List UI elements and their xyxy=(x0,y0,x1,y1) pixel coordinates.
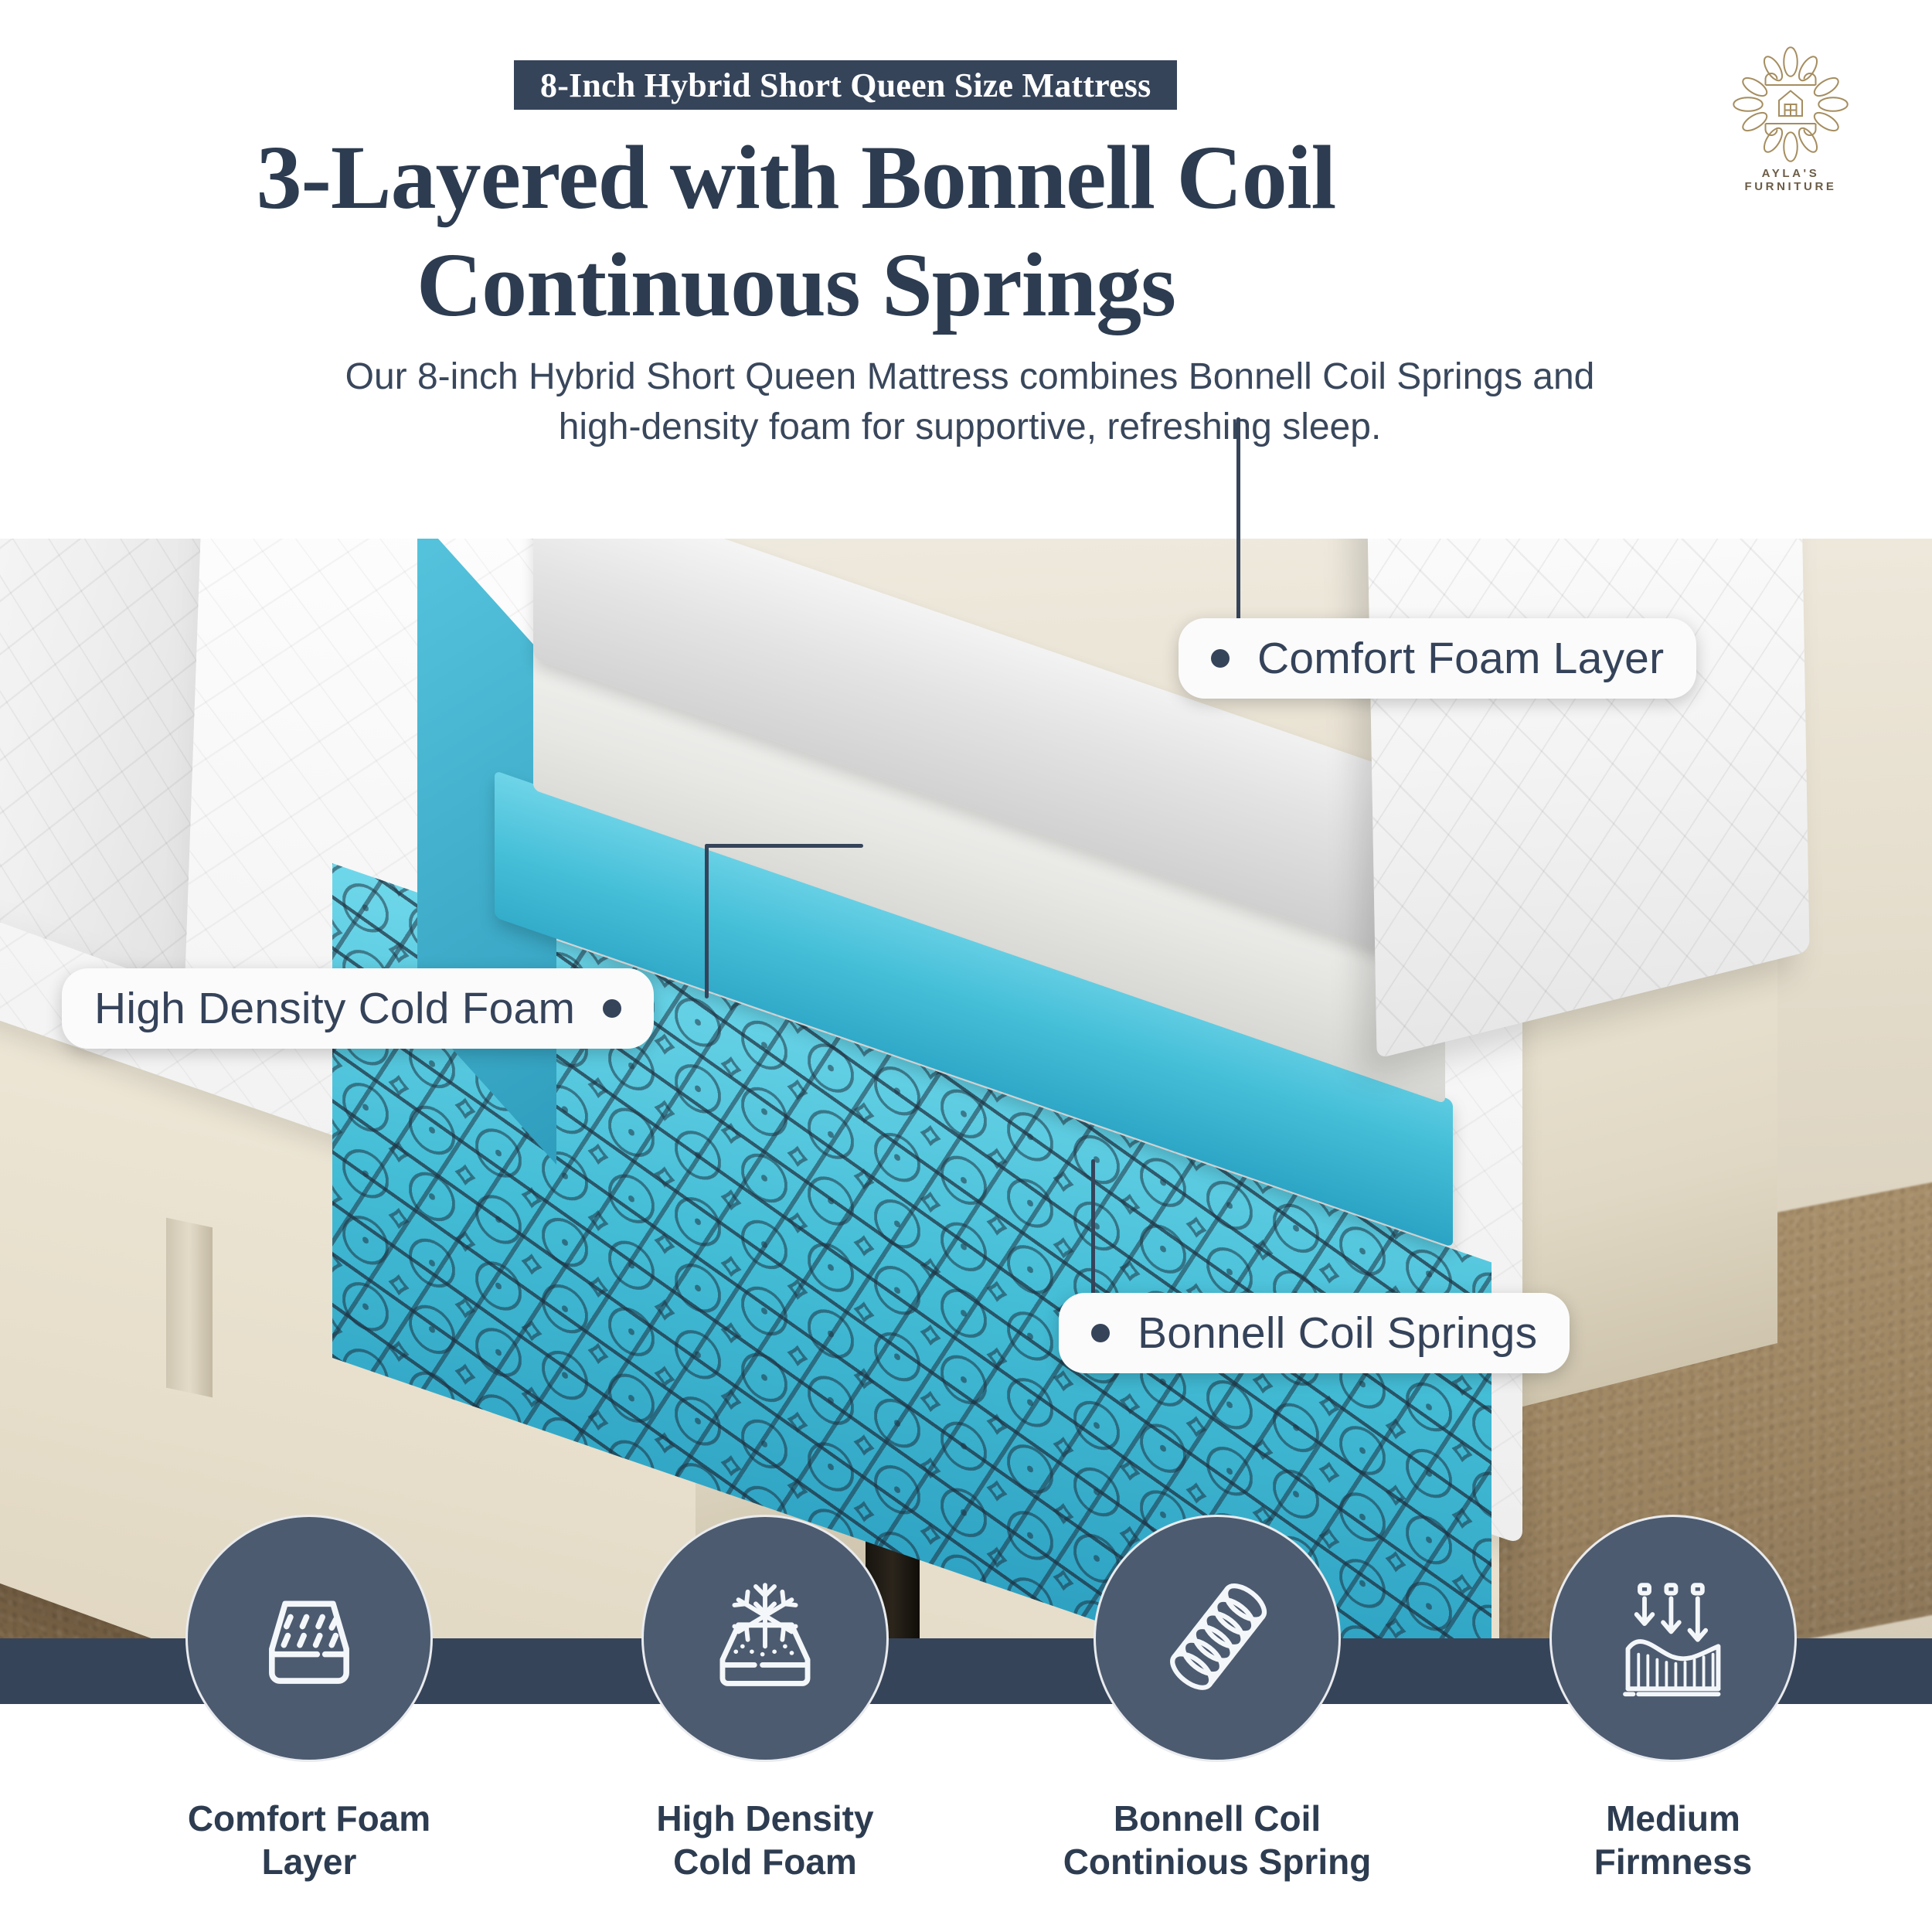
leader-line-cold-foam-h xyxy=(705,844,863,848)
badge-label: 8-Inch Hybrid Short Queen Size Mattress xyxy=(540,66,1151,105)
product-badge: 8-Inch Hybrid Short Queen Size Mattress xyxy=(514,60,1177,110)
feature-label: High Density Cold Foam xyxy=(587,1797,943,1883)
mattress-side-panel xyxy=(0,539,202,989)
feature-icon-circle xyxy=(641,1515,889,1762)
firmness-arrows-icon xyxy=(1607,1572,1740,1705)
callout-bonnell-coil-springs: Bonnell Coil Springs xyxy=(1059,1293,1570,1373)
callout-high-density-cold-foam: High Density Cold Foam xyxy=(62,968,654,1049)
callout-dot-icon xyxy=(1211,649,1230,668)
page-title: 3-Layered with Bonnell Coil Continuous S… xyxy=(0,124,1592,338)
callout-comfort-foam-layer: Comfort Foam Layer xyxy=(1179,618,1696,699)
leader-line-cold-foam-v xyxy=(705,844,709,998)
feature-icon-circle xyxy=(185,1515,433,1762)
page-title-line-2: Continuous Springs xyxy=(0,231,1592,338)
feature-label: Bonnell Coil Continious Spring xyxy=(1039,1797,1395,1883)
brand-logo: AYLA'S FURNITURE xyxy=(1717,46,1864,193)
leader-line-comfort-foam xyxy=(1236,417,1240,649)
callout-label: Bonnell Coil Springs xyxy=(1138,1308,1537,1359)
brand-name: AYLA'S FURNITURE xyxy=(1717,167,1864,193)
feature-label: Medium Firmness xyxy=(1495,1797,1851,1883)
callout-dot-icon xyxy=(1091,1324,1110,1342)
feature-icons-row: Comfort Foam Layer xyxy=(0,1638,1932,1932)
feature-label: Comfort Foam Layer xyxy=(131,1797,487,1883)
product-photo xyxy=(0,539,1932,1651)
page-title-line-1: 3-Layered with Bonnell Coil xyxy=(0,124,1592,231)
bed-leg-left xyxy=(166,1218,213,1398)
feature-icon-circle xyxy=(1549,1515,1797,1762)
callout-label: High Density Cold Foam xyxy=(94,983,575,1034)
coil-spring-icon xyxy=(1151,1572,1284,1705)
snowflake-mattress-icon xyxy=(699,1572,832,1705)
subtitle-line-1: Our 8-inch Hybrid Short Queen Mattress c… xyxy=(193,352,1747,402)
callout-dot-icon xyxy=(603,999,621,1018)
house-leaf-emblem-icon xyxy=(1733,46,1849,162)
header-section: 8-Inch Hybrid Short Queen Size Mattress … xyxy=(0,0,1932,541)
feature-icon-circle xyxy=(1094,1515,1341,1762)
subtitle: Our 8-inch Hybrid Short Queen Mattress c… xyxy=(193,352,1747,453)
subtitle-line-2: high-density foam for supportive, refres… xyxy=(193,402,1747,452)
mattress-layer-icon xyxy=(243,1572,376,1705)
callout-label: Comfort Foam Layer xyxy=(1257,633,1664,684)
